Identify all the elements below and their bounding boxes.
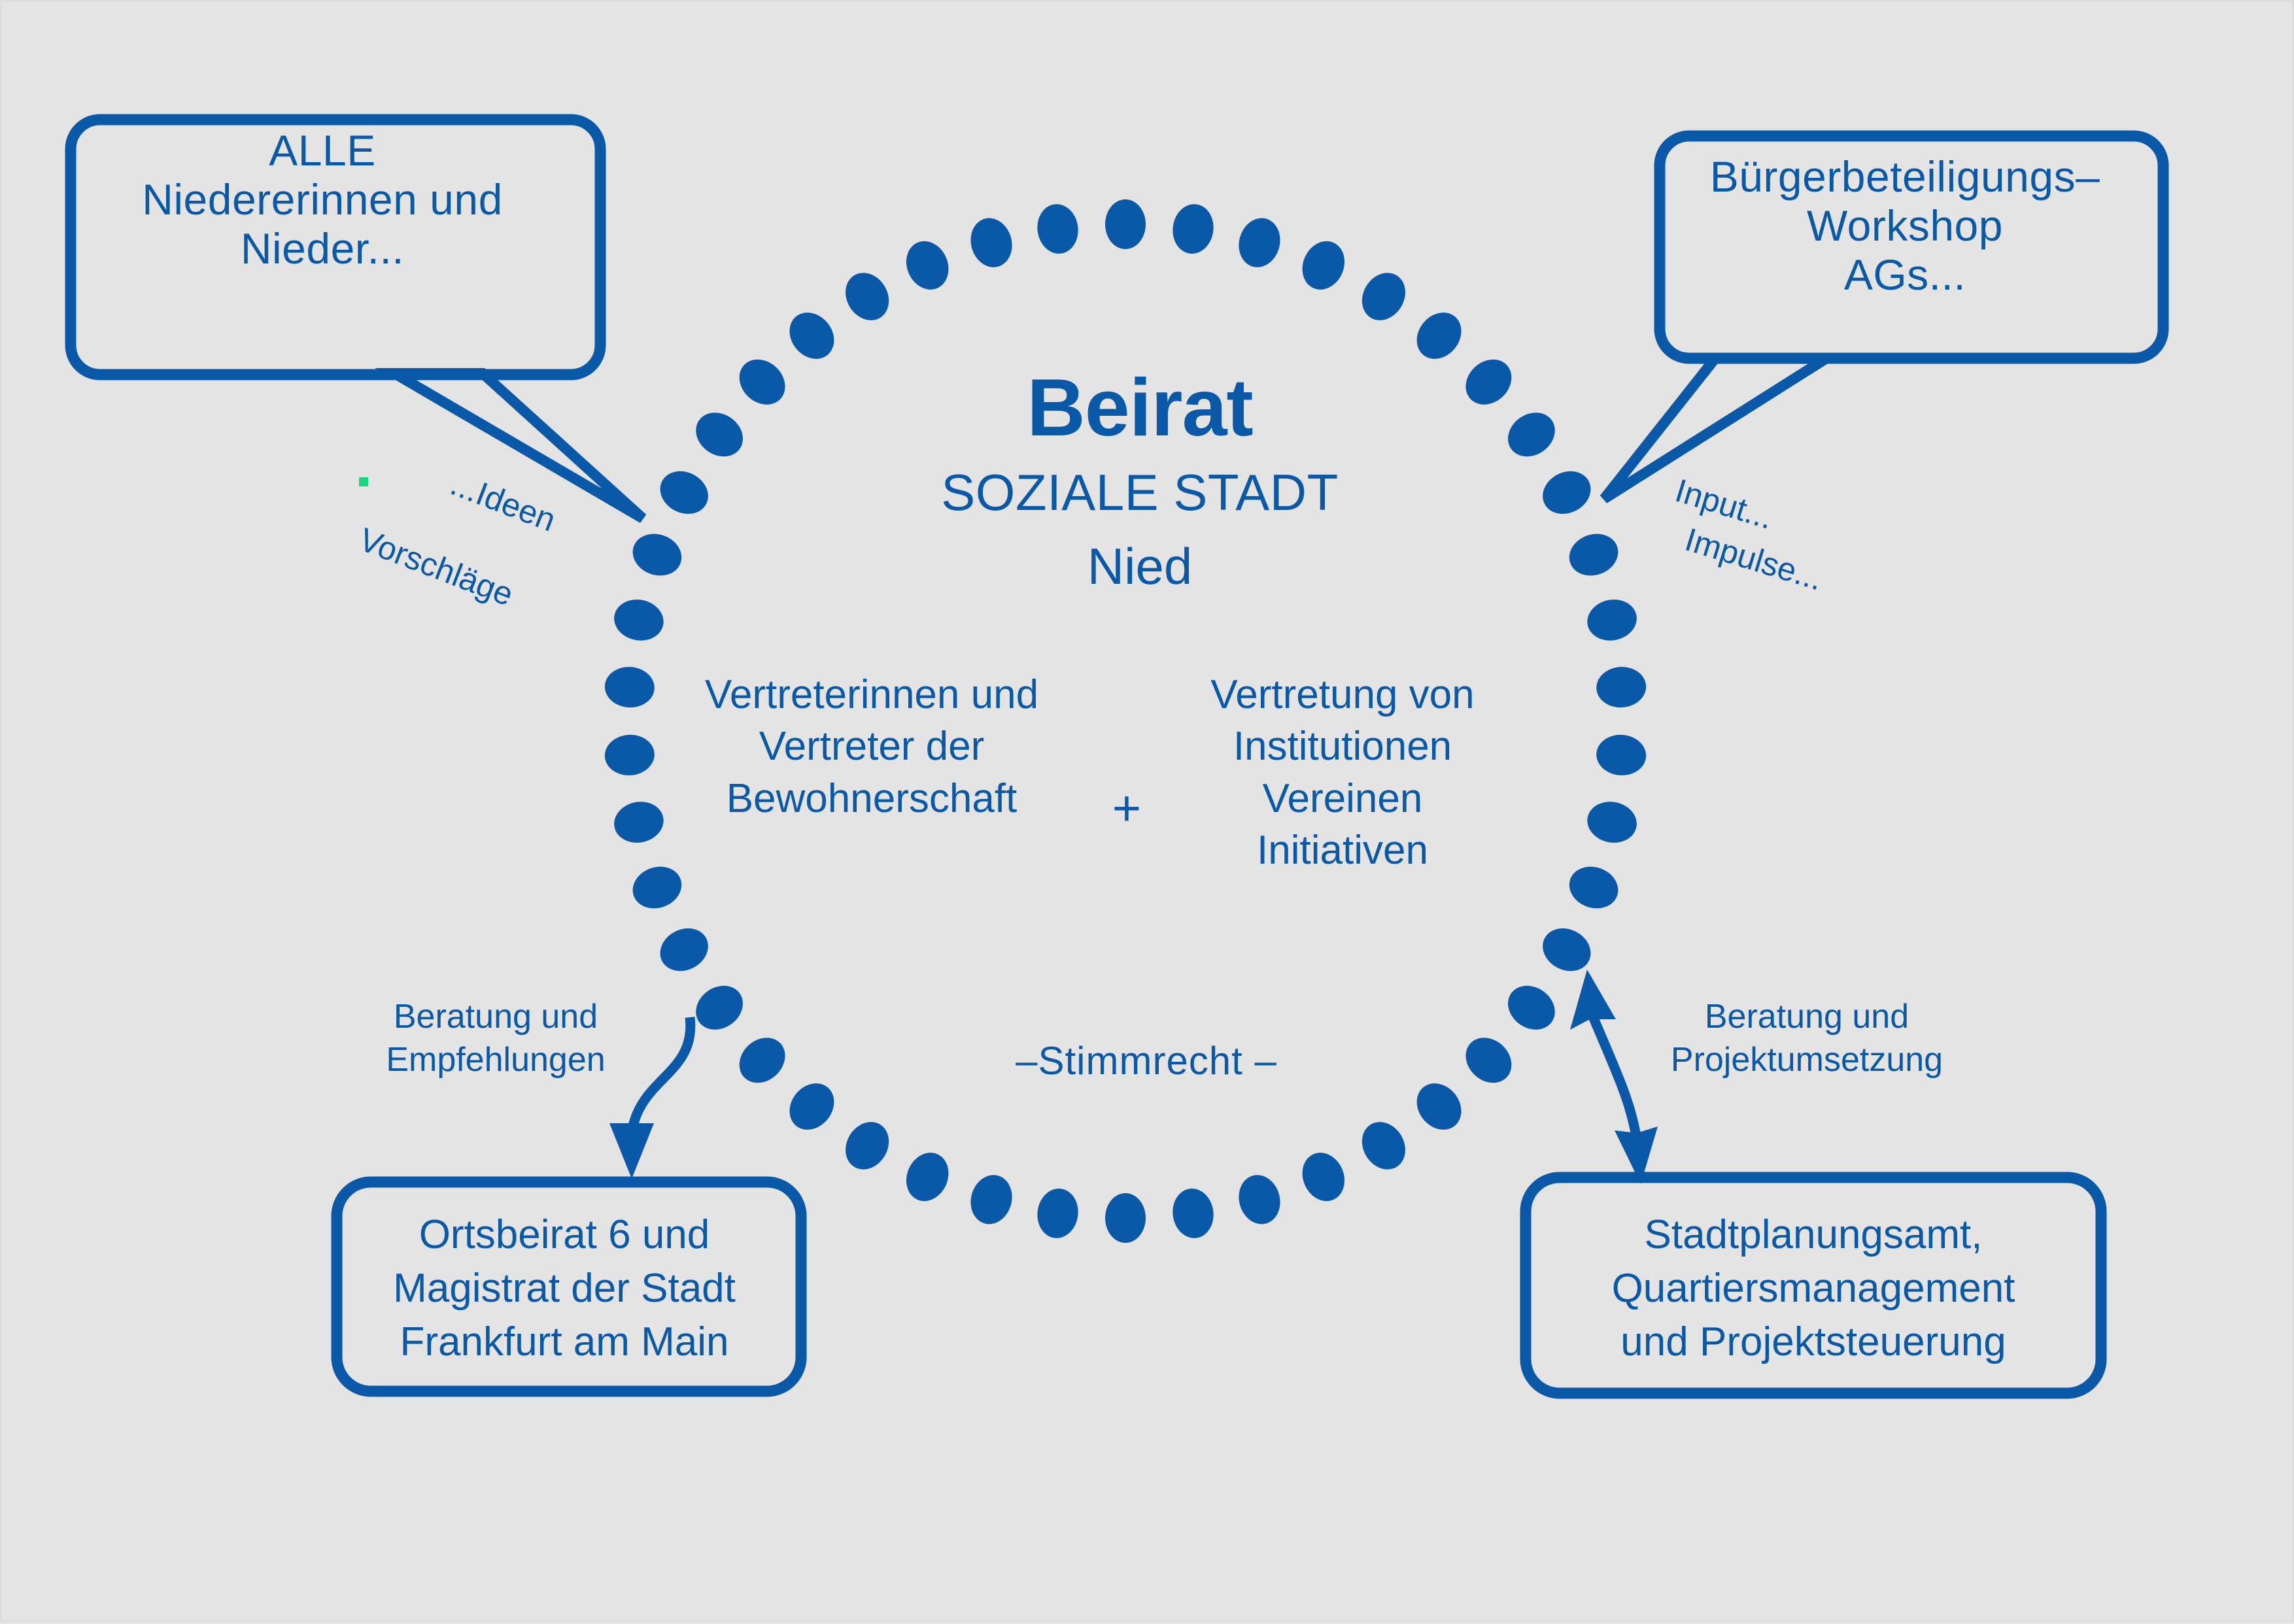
ring-dot [687, 403, 751, 465]
arrow-left-down-head [609, 1123, 654, 1179]
ring-dot [1233, 213, 1286, 272]
center-heading: Beirat [774, 367, 1506, 449]
speech-bubble-right-label: Bürgerbeteiligungs– Workshop AGs... [1676, 152, 2134, 300]
ring-dot [1233, 1170, 1286, 1229]
green-marker-dot [359, 477, 368, 486]
ring-dot [653, 921, 715, 979]
ring-dot [1354, 265, 1414, 328]
ring-dot [899, 1146, 956, 1208]
box-left-label: Ortsbeirat 6 und Magistrat der Stadt Fra… [329, 1208, 800, 1368]
ring-dot [610, 595, 667, 645]
ring-dot [1499, 977, 1564, 1038]
diagram-canvas: ALLE Niedererinnen und Nieder... Bürgerb… [0, 0, 2294, 1622]
ring-dot [1170, 201, 1217, 256]
ring-dot [653, 463, 715, 522]
connector-label-beratung-empfehlungen: Beratung und Empfehlungen [355, 996, 636, 1081]
ring-dot [965, 1170, 1018, 1229]
ring-dot [1595, 666, 1647, 709]
ring-dot [1535, 921, 1598, 979]
center-left-column: Vertreterinnen und Vertreter der Bewohne… [695, 669, 1048, 824]
ring-dot [1035, 201, 1082, 256]
ring-dot [627, 528, 687, 583]
ring-dot [1535, 463, 1598, 522]
ring-dot [899, 235, 956, 296]
ring-dot [1564, 528, 1624, 583]
ring-dot [1295, 1146, 1352, 1208]
center-right-column: Vertretung von Institutionen Vereinen In… [1205, 669, 1480, 876]
ring-dot [1105, 1193, 1146, 1243]
box-right-label: Stadtplanungsamt, Quartiersmanagement un… [1526, 1208, 2101, 1368]
ring-dot [837, 265, 897, 328]
ring-dot [604, 666, 656, 709]
ring-dot [1499, 403, 1564, 465]
ring-dot [1456, 1028, 1520, 1092]
ring-dot [1584, 595, 1641, 645]
ring-dot [687, 977, 751, 1038]
ring-dot [965, 213, 1018, 272]
speech-bubble-left-label: ALLE Niedererinnen und Nieder... [94, 126, 551, 274]
center-title-group: Beirat SOZIALE STADT Nied [774, 355, 1506, 610]
ring-dot [1408, 1074, 1471, 1138]
ring-dot [837, 1114, 897, 1177]
plus-icon: + [1074, 780, 1179, 837]
ring-dot [780, 1074, 843, 1138]
speech-bubble-right-tail [1604, 358, 1826, 499]
ring-dot [730, 1028, 795, 1092]
ring-dot [1354, 1114, 1414, 1177]
ring-dot [604, 733, 656, 777]
connector-label-beratung-projektumsetzung: Beratung und Projektumsetzung [1643, 996, 1970, 1081]
ring-dot [1035, 1186, 1082, 1241]
ring-dot [1170, 1186, 1217, 1241]
ring-dot [1105, 199, 1146, 249]
ring-dot [1595, 733, 1647, 777]
ring-dot [627, 860, 687, 915]
center-location: Nied [774, 535, 1506, 598]
center-subheading: SOZIALE STADT [774, 462, 1506, 524]
ring-dot [1584, 798, 1641, 847]
ring-dot [1295, 235, 1352, 296]
center-footer-stimmrecht: –Stimmrecht – [937, 1038, 1356, 1083]
ring-dot [1564, 860, 1624, 915]
ring-dot [610, 798, 667, 847]
